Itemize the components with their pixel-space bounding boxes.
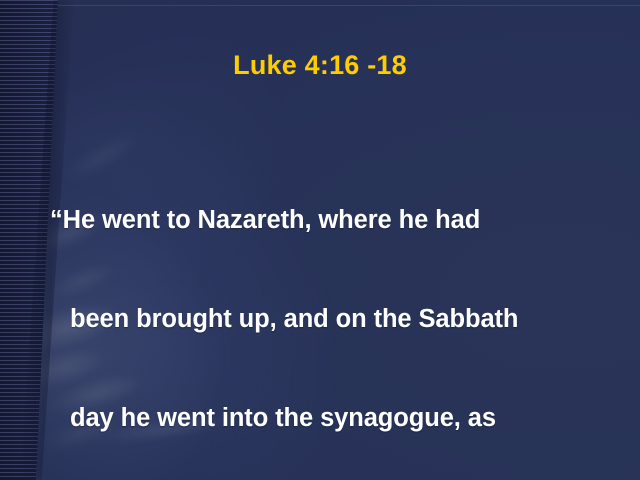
verse-text-block: “He went to Nazareth, where he had been … [50, 138, 616, 480]
verse-line: “He went to Nazareth, where he had [50, 204, 616, 237]
verse-line: day he went into the synagogue, as [50, 402, 616, 435]
slide-content: Luke 4:16 -18 “He went to Nazareth, wher… [0, 0, 640, 480]
slide-title: Luke 4:16 -18 [0, 52, 640, 79]
verse-line: been brought up, and on the Sabbath [50, 303, 616, 336]
presentation-slide: Luke 4:16 -18 “He went to Nazareth, wher… [0, 0, 640, 480]
